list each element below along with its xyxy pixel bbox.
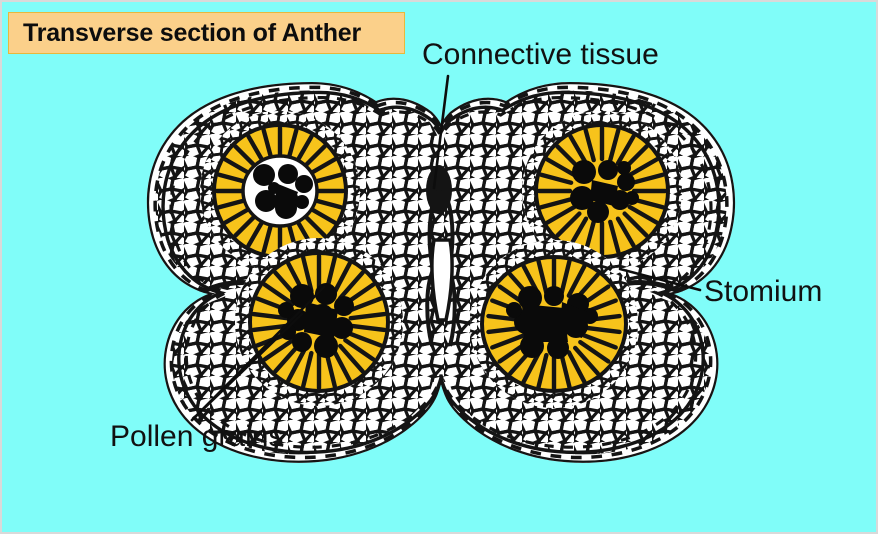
lower-right-microsporangium — [470, 240, 638, 408]
label-connective-tissue: Connective tissue — [422, 40, 659, 70]
diagram-canvas: Transverse section of Anther Connective … — [0, 0, 878, 534]
anther-cross-section-illustration — [2, 2, 878, 534]
label-pollen-grains: Pollen grains — [110, 422, 283, 452]
title-banner: Transverse section of Anther — [8, 12, 405, 54]
lower-left-microsporangium — [235, 238, 403, 406]
label-stomium: Stomium — [704, 277, 822, 307]
page-title: Transverse section of Anther — [23, 19, 361, 48]
